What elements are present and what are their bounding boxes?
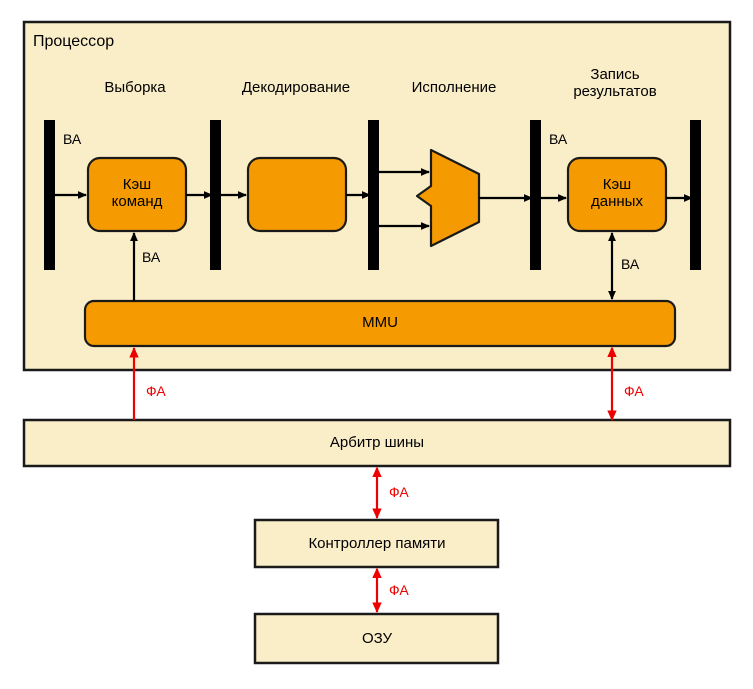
memory-controller-label: Контроллер памяти — [308, 535, 445, 552]
pipeline-latch-bar-4 — [530, 120, 541, 270]
mmu-label: MMU — [362, 314, 398, 331]
fa-label-mmu-right-arbiter: ФА — [624, 383, 644, 400]
stage-label-execute: Исполнение — [412, 79, 497, 96]
stage-label-writeback: Запись результатов — [573, 66, 656, 100]
pipeline-latch-bar-1 — [44, 120, 55, 270]
pipeline-latch-bar-5 — [690, 120, 701, 270]
stage-label-decode: Декодирование — [242, 79, 350, 96]
va-label-dcache-mmu: ВА — [621, 256, 639, 273]
diagram-canvas: Процессор Выборка Декодирование Исполнен… — [0, 0, 753, 689]
ram-label: ОЗУ — [362, 630, 392, 647]
bus-arbiter-label: Арбитр шины — [330, 434, 424, 451]
fa-label-mmu-left-arbiter: ФА — [146, 383, 166, 400]
data-cache-label: Кэш данных — [591, 176, 643, 210]
va-label-fetch-top: ВА — [63, 131, 81, 148]
decode-unit-block — [248, 158, 346, 231]
stage-label-fetch: Выборка — [104, 79, 165, 96]
va-label-icache-mmu: ВА — [142, 249, 160, 266]
va-label-writeback-top: ВА — [549, 131, 567, 148]
processor-memory-block-diagram — [0, 0, 753, 689]
fa-label-memory-controller-ram: ФА — [389, 582, 409, 599]
fa-label-arbiter-memory-controller: ФА — [389, 484, 409, 501]
instruction-cache-label: Кэш команд — [112, 176, 163, 210]
processor-title-label: Процессор — [33, 33, 114, 50]
